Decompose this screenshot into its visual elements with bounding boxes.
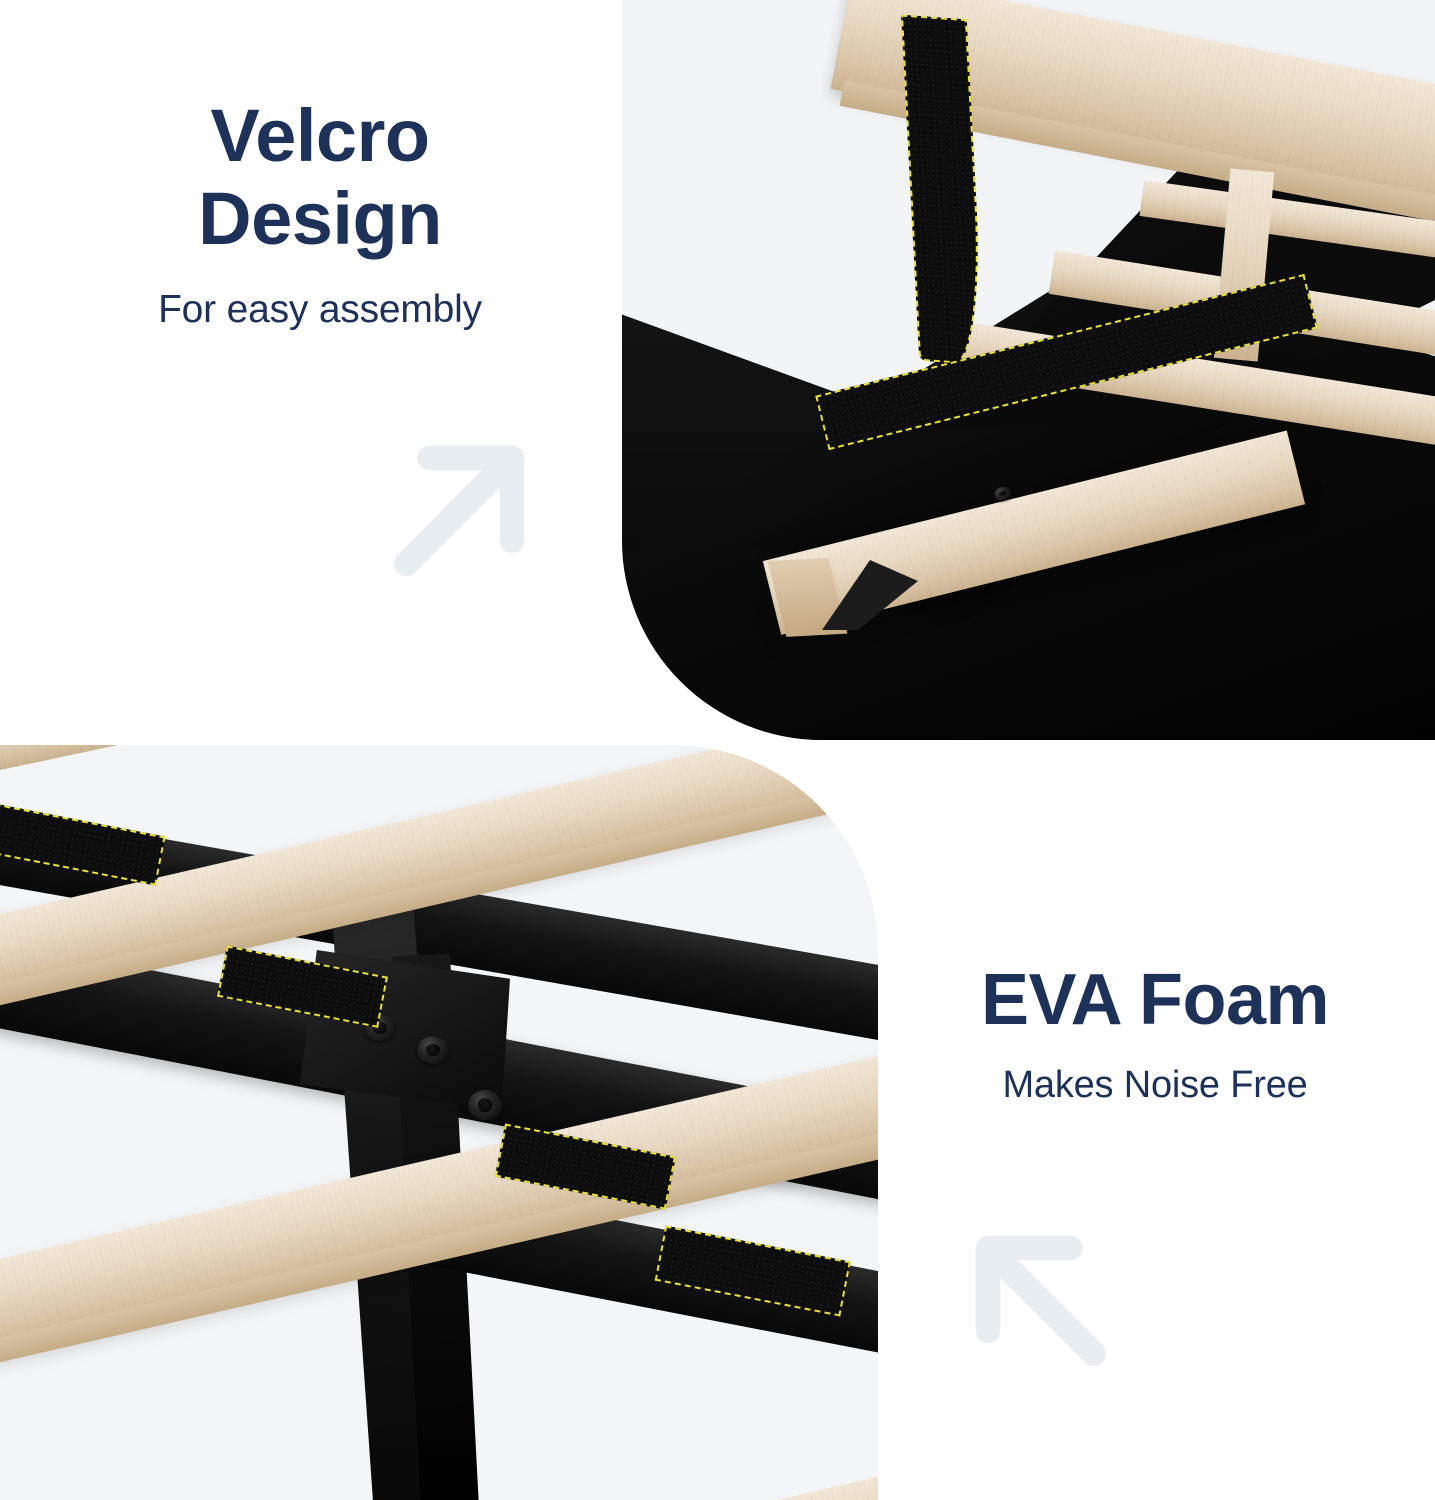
arrow-up-left-icon	[955, 1215, 1120, 1380]
eva-foam-headline: EVA Foam	[900, 960, 1410, 1041]
velcro-headline-line1: Velcro	[210, 94, 429, 177]
eva-foam-text-block: EVA Foam Makes Noise Free	[900, 960, 1410, 1108]
product-feature-infographic: Velcro Design For easy assembly	[0, 0, 1435, 1500]
photo-frame-bolt-low	[468, 1090, 502, 1120]
velcro-strap-photo	[622, 0, 1435, 740]
velcro-headline: Velcro Design	[60, 95, 580, 261]
photo-slat-4	[230, 1401, 878, 1500]
eva-foam-subline: Makes Noise Free	[900, 1063, 1410, 1109]
arrow-up-right-icon	[380, 425, 545, 590]
velcro-subline: For easy assembly	[60, 287, 580, 334]
photo-frame-bolt-mid	[417, 1036, 449, 1064]
velcro-text-block: Velcro Design For easy assembly	[60, 95, 580, 334]
eva-foam-photo	[0, 745, 878, 1500]
top-feature-panel: Velcro Design For easy assembly	[0, 0, 1435, 740]
velcro-headline-line2: Design	[198, 177, 442, 260]
